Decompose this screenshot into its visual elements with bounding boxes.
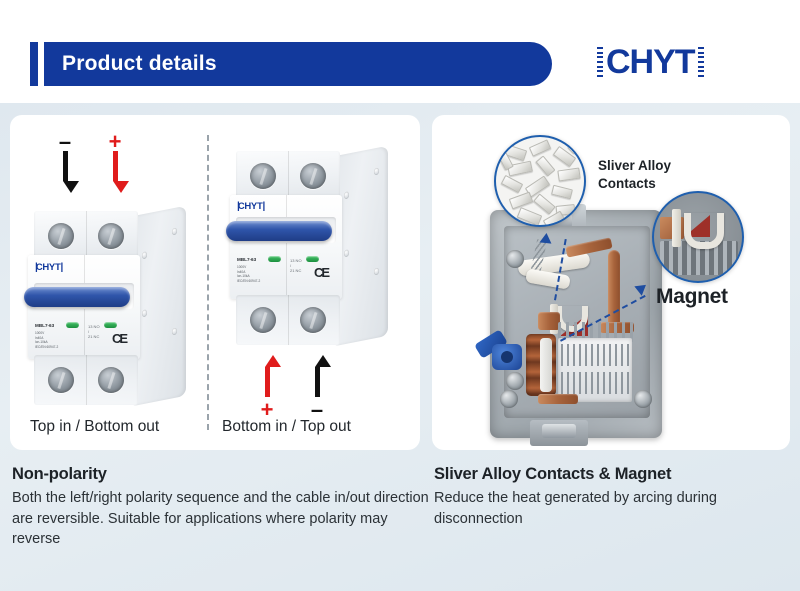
logo-text: CHYT xyxy=(606,45,695,79)
non-polarity-card: – + xyxy=(10,115,420,450)
contacts-magnet-body: Reduce the heat generated by arcing duri… xyxy=(434,488,790,529)
housing-rivet xyxy=(506,372,524,390)
copper-contact-arm xyxy=(565,237,612,257)
status-led xyxy=(104,322,117,328)
figure-top-in-bottom-out: – + xyxy=(28,133,203,433)
status-led xyxy=(306,256,319,262)
arrow-down-black-icon xyxy=(63,151,68,193)
figure-bottom-in-top-out: |CHYT| MBL7-63 1000VIn40AIcn-10kAIEC/EN … xyxy=(222,133,407,433)
contacts-magnet-card: Sliver Alloy Contacts Magnet xyxy=(432,115,790,450)
breaker-handle[interactable] xyxy=(226,221,332,241)
breaker-spec-print: 1000VIn40AIcn-10kAIEC/EN 60947-2 xyxy=(237,265,260,284)
breaker-brand-print: |CHYT| xyxy=(237,201,263,212)
contacts-magnet-title: Sliver Alloy Contacts & Magnet xyxy=(434,465,790,484)
terminal-screw xyxy=(250,163,276,189)
breaker-handle[interactable] xyxy=(24,287,130,307)
non-polarity-body: Both the left/right polarity sequence an… xyxy=(12,488,430,550)
terminal-screw xyxy=(98,367,124,393)
breaker-top-terminals xyxy=(236,151,340,201)
magnet-closeup-image xyxy=(654,193,742,281)
logo-right-bars-icon xyxy=(698,47,704,77)
breaker-unit-2: |CHYT| MBL7-63 1000VIn40AIcn-10kAIEC/EN … xyxy=(230,143,390,348)
status-led xyxy=(268,256,281,262)
terminal-screw xyxy=(300,163,326,189)
contacts-magnet-description: Sliver Alloy Contacts & Magnet Reduce th… xyxy=(434,465,790,529)
non-polarity-description: Non-polarity Both the left/right polarit… xyxy=(12,465,430,550)
breaker-brand-print: |CHYT| xyxy=(35,262,61,273)
breaker-top-terminals xyxy=(34,211,138,261)
silver-alloy-chips-image xyxy=(496,137,584,225)
breaker-front-face: |CHYT| MBL7-63 1000VIn40AIcn-10kAIEC/EN … xyxy=(230,195,342,299)
figure-divider xyxy=(207,135,209,430)
page-title: Product details xyxy=(44,52,217,76)
terminal-screw xyxy=(48,223,74,249)
breaker-bottom-terminals xyxy=(34,355,138,405)
copper-lower-link xyxy=(538,394,578,404)
copper-conductor xyxy=(608,250,620,328)
polarity-bottom-positive: + xyxy=(252,355,282,419)
polarity-top-positive: + xyxy=(100,133,130,193)
ce-mark: CE xyxy=(314,265,328,280)
latch-arm xyxy=(525,268,571,289)
copper-block xyxy=(538,312,560,330)
callout-silver-alloy-contacts xyxy=(494,135,586,227)
arrow-up-red-icon xyxy=(265,355,270,397)
din-rail-screw xyxy=(634,390,652,408)
breaker-front-face: |CHYT| MBL7-63 1000VIn40AIcn-10kAIEC/EN … xyxy=(28,255,140,359)
content-area: – + xyxy=(0,103,800,591)
ce-mark: CE xyxy=(112,331,126,346)
arrow-up-black-icon xyxy=(315,355,320,397)
breaker-model-print: MBL7-63 xyxy=(237,257,256,262)
header-title-bar: Product details xyxy=(44,42,552,86)
header-accent-bar xyxy=(30,42,38,86)
polarity-bottom-negative: – xyxy=(302,355,332,419)
callout-magnet xyxy=(652,191,744,283)
figure-1-caption: Top in / Bottom out xyxy=(30,418,159,436)
callout-contacts-label: Sliver Alloy Contacts xyxy=(598,157,671,193)
non-polarity-title: Non-polarity xyxy=(12,465,430,484)
terminal-screw xyxy=(250,307,276,333)
logo-left-bars-icon xyxy=(597,47,603,77)
arc-chute xyxy=(558,338,632,402)
breaker-handle-blue[interactable] xyxy=(476,332,530,374)
din-rail-screw xyxy=(500,390,518,408)
page-header: Product details CHYT xyxy=(0,0,800,103)
figure-2-caption: Bottom in / Top out xyxy=(222,418,351,436)
cutaway-interior xyxy=(504,226,650,418)
status-led xyxy=(66,322,79,328)
breaker-bottom-terminals xyxy=(236,295,340,345)
terminal-screw xyxy=(98,223,124,249)
polarity-top-negative: – xyxy=(50,133,80,193)
breaker-unit-1: |CHYT| MBL7-63 1000VIn40AIcn-10kAIEC/EN … xyxy=(28,203,188,408)
breaker-cutaway-illustration xyxy=(490,210,662,438)
breaker-side-panel xyxy=(132,206,186,406)
housing-rivet xyxy=(506,250,524,268)
breaker-symbol-print: 13 NO/21 NC xyxy=(88,325,100,339)
breaker-symbol-print: 13 NO/21 NC xyxy=(290,259,302,273)
arrow-down-red-icon xyxy=(113,151,118,193)
breaker-model-print: MBL7-63 xyxy=(35,323,54,328)
breaker-side-panel xyxy=(334,146,388,346)
chyt-logo: CHYT xyxy=(597,40,704,84)
terminal-screw xyxy=(48,367,74,393)
callout-magnet-label: Magnet xyxy=(656,285,728,309)
solenoid-core xyxy=(540,338,552,392)
terminal-screw xyxy=(300,307,326,333)
breaker-spec-print: 1000VIn40AIcn-10kAIEC/EN 60947-2 xyxy=(35,331,58,350)
